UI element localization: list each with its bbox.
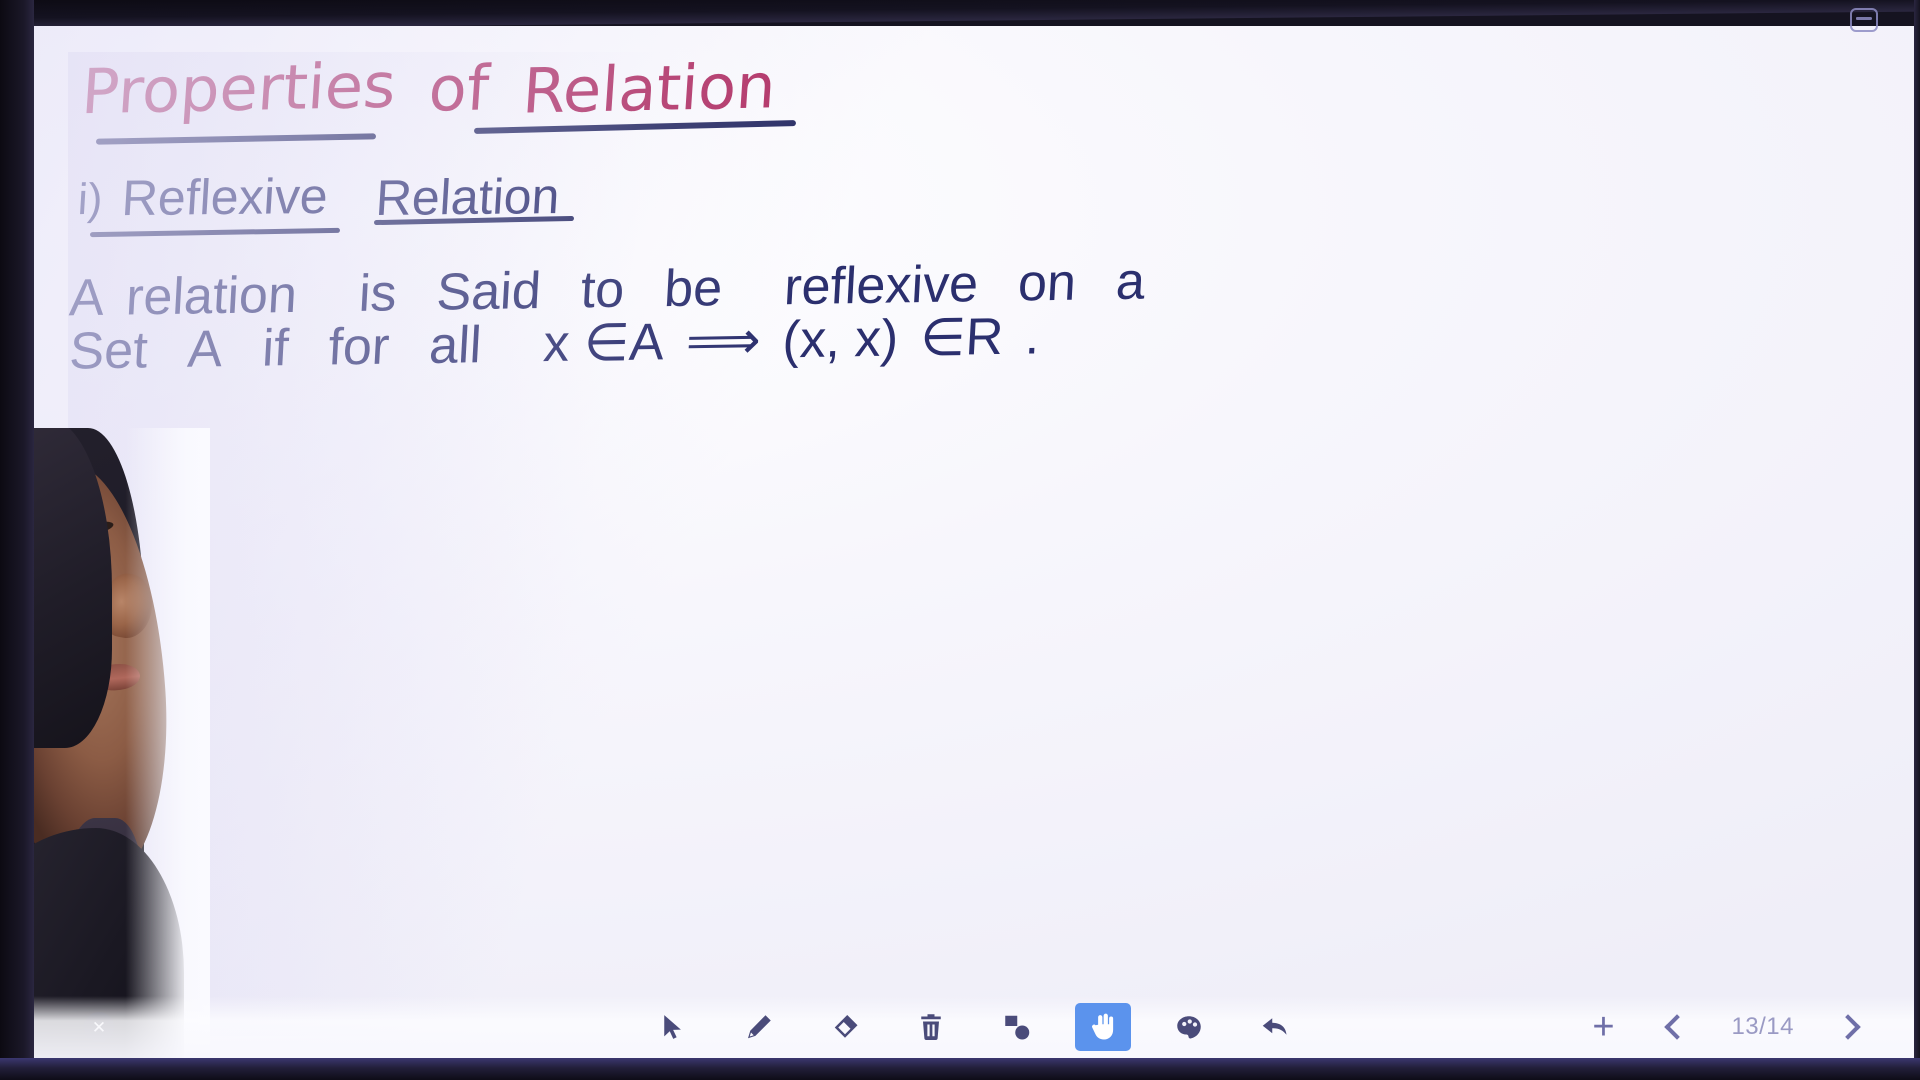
device-bezel-bottom [0,1058,1920,1080]
underline-heading-reflexive [90,228,340,237]
shapes-icon [1002,1012,1032,1042]
screenshot-root: Properties of Relation i) Reflexive Rela… [0,0,1920,1080]
body-l2-t9: . [1024,310,1041,362]
body-l1-t3: Said [435,265,542,319]
whiteboard-canvas[interactable]: Properties of Relation i) Reflexive Rela… [34,26,1914,1058]
color-tool[interactable] [1161,1003,1217,1051]
title-word-relation: Relation [521,55,778,122]
eraser-icon [830,1012,860,1042]
title-word-of: of [427,57,491,120]
prev-page-button[interactable] [1657,1005,1697,1049]
heading-word-relation: Relation [375,171,562,223]
body-l2-t5: x ∈A [542,316,665,370]
page-indicator: 13/14 [1731,1013,1794,1041]
chevron-right-icon [1835,1014,1860,1039]
body-l1-t8: a [1115,256,1147,308]
board-title: Properties of Relation [82,58,776,120]
pen-tool[interactable] [731,1003,787,1051]
chevron-left-icon [1665,1014,1690,1039]
body-l2-t7: (x, x) [781,313,899,367]
body-l1-t6: reflexive [783,258,980,313]
body-l2-t0: Set [68,324,149,377]
title-word-properties: Properties [80,55,398,124]
collapse-panel-icon[interactable] [1850,8,1878,32]
body-l1-t7: on [1017,257,1078,310]
body-l1-t1: relation [125,269,299,324]
heading-word-reflexive: Reflexive [121,171,330,223]
body-l2-t3: for [327,321,391,374]
presenter-video-overlay[interactable] [34,428,210,1058]
next-page-button[interactable] [1828,1005,1868,1049]
pan-tool[interactable] [1075,1003,1131,1051]
pager-controls: + 13/14 [1583,1005,1868,1049]
body-l2-t1: A [186,323,224,376]
presenter-edge-fade [34,428,210,1058]
body-l2-t8: ∈R [919,311,1005,364]
body-l2-t2: if [261,322,290,374]
shapes-tool[interactable] [989,1003,1045,1051]
body-l1-t4: to [579,264,625,317]
bottom-toolbar: + 13/14 [34,996,1914,1058]
device-bezel-left [0,0,34,1080]
body-line-2: SetAifforallx ∈A⟹(x, x)∈R. [68,310,1041,377]
hand-icon [1088,1012,1118,1042]
body-l1-t0: A [68,272,106,325]
device-bezel-right [1914,0,1920,1080]
trash-icon [916,1012,946,1042]
add-page-button[interactable]: + [1583,1005,1623,1049]
select-tool[interactable] [645,1003,701,1051]
underline-title-properties [96,133,376,144]
undo-arrow-icon [1260,1012,1290,1042]
plus-icon: + [1592,1008,1614,1046]
heading-number: i) [77,178,104,222]
undo-tool[interactable] [1247,1003,1303,1051]
body-l1-t5: be [663,262,724,315]
body-l2-t4: all [428,319,483,372]
tool-group [645,1003,1303,1051]
cursor-arrow-icon [658,1012,688,1042]
delete-tool[interactable] [903,1003,959,1051]
topbar-right-controls [1850,8,1878,32]
eraser-tool[interactable] [817,1003,873,1051]
body-l2-t6: ⟹ [685,315,762,368]
palette-icon [1174,1012,1204,1042]
board-heading: i) Reflexive Relation [78,172,560,222]
pencil-icon [744,1012,774,1042]
body-l1-t2: is [358,267,398,320]
